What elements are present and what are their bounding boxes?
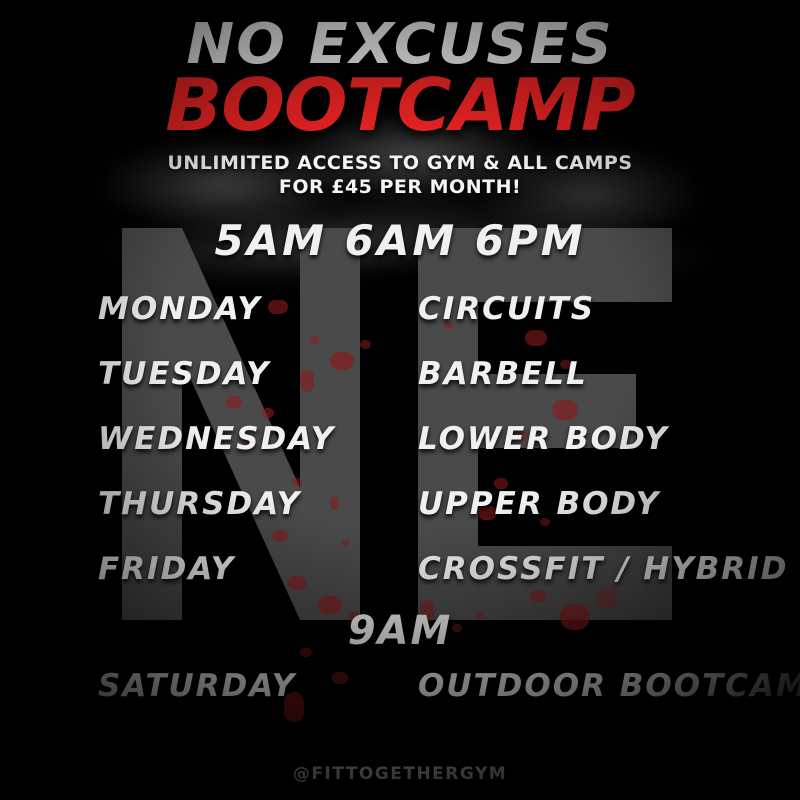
day-label: MONDAY (98, 291, 262, 327)
schedule-row: FRIDAYCROSSFIT / HYBRID (0, 536, 800, 601)
schedule-row: WEDNESDAYLOWER BODY (0, 406, 800, 471)
headline-group: NO EXCUSES BOOTCAMP (0, 16, 800, 139)
subtitle-line-1: UNLIMITED ACCESS TO GYM & ALL CAMPS (0, 152, 800, 176)
day-label: TUESDAY (98, 356, 270, 392)
activity-label: BARBELL (418, 356, 588, 392)
poster-canvas: NO EXCUSES BOOTCAMP UNLIMITED ACCESS TO … (0, 0, 800, 800)
activity-label: LOWER BODY (418, 421, 669, 457)
activity-label: CROSSFIT / HYBRID (418, 551, 788, 587)
weekend-schedule-row: SATURDAY OUTDOOR BOOTCAMP (0, 668, 800, 718)
day-label: THURSDAY (98, 486, 301, 522)
subtitle-line-2: FOR £45 PER MONTH! (0, 176, 800, 200)
weekday-schedule-list: MONDAYCIRCUITSTUESDAYBARBELLWEDNESDAYLOW… (0, 276, 800, 601)
schedule-row: THURSDAYUPPER BODY (0, 471, 800, 536)
social-handle: @FITTOGETHERGYM (0, 764, 800, 784)
weekday-times-header: 5AM 6AM 6PM (0, 216, 800, 265)
weekend-times-header: 9AM (0, 608, 800, 654)
weekend-day-label: SATURDAY (98, 668, 296, 704)
activity-label: CIRCUITS (418, 291, 595, 327)
schedule-row: TUESDAYBARBELL (0, 341, 800, 406)
headline-bootcamp: BOOTCAMP (0, 71, 800, 139)
schedule-row: MONDAYCIRCUITS (0, 276, 800, 341)
activity-label: UPPER BODY (418, 486, 660, 522)
day-label: WEDNESDAY (98, 421, 335, 457)
weekend-activity-label: OUTDOOR BOOTCAMP (418, 668, 800, 704)
day-label: FRIDAY (98, 551, 235, 587)
subtitle-group: UNLIMITED ACCESS TO GYM & ALL CAMPS FOR … (0, 152, 800, 200)
